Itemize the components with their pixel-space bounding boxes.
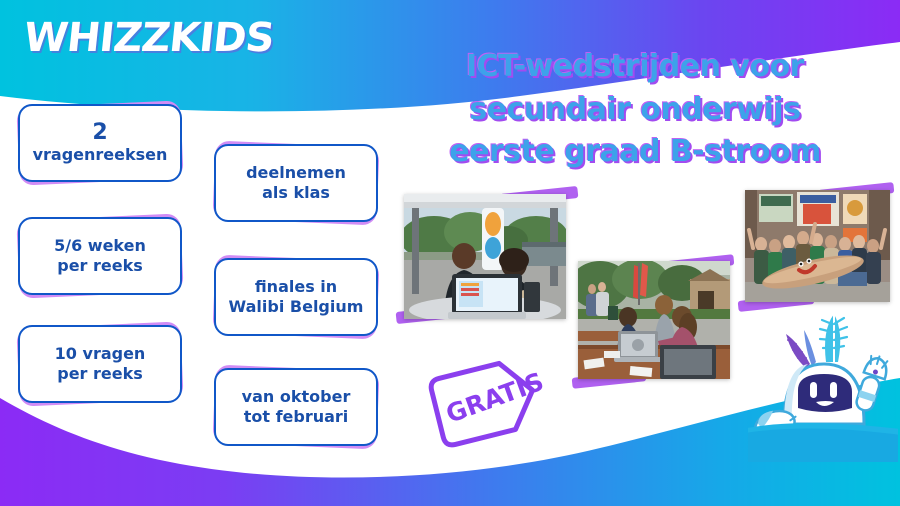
fact-label-line-1: 10 vragen — [55, 344, 146, 364]
photo-group-walibi — [745, 190, 890, 302]
whizzkids-robot-mascot — [748, 312, 898, 462]
photo-students-outdoor-tables — [578, 261, 730, 379]
fact-label-line-2: per reeks — [57, 364, 143, 384]
fact-label-line-2: Walibi Belgium — [229, 297, 364, 317]
headline-line-3: eerste graad B-stroom — [400, 131, 870, 174]
fact-box-card: 5/6 weken per reeks — [18, 217, 182, 295]
fact-label: vragenreeksen — [33, 145, 168, 165]
fact-box-vragen-per-reeks: 10 vragen per reeks — [18, 325, 182, 403]
fact-box-card: deelnemen als klas — [214, 144, 378, 222]
fact-label-line-2: als klas — [262, 183, 330, 203]
headline-line-1: ICT-wedstrijden voor — [400, 46, 870, 89]
gratis-stamp-badge: GRATIS — [424, 356, 546, 448]
fact-box-deelnemen-als-klas: deelnemen als klas — [214, 144, 378, 222]
fact-box-finales-walibi: finales in Walibi Belgium — [214, 258, 378, 336]
page-title: ICT-wedstrijden voor secundair onderwijs… — [400, 46, 870, 174]
fact-box-periode: van oktober tot februari — [214, 368, 378, 446]
fact-label-line-2: tot februari — [244, 407, 349, 427]
photo-students-laptop-tent — [404, 194, 566, 319]
fact-label-line-1: finales in — [255, 277, 337, 297]
logo-text: WHIZZKIDS — [22, 15, 276, 61]
fact-box-card: finales in Walibi Belgium — [214, 258, 378, 336]
headline-line-2: secundair onderwijs — [400, 89, 870, 132]
whizzkids-logo: WHIZZKIDS — [22, 18, 276, 58]
fact-label-line-1: 5/6 weken — [54, 236, 146, 256]
fact-box-weken-per-reeks: 5/6 weken per reeks — [18, 217, 182, 295]
fact-box-card: 2 vragenreeksen — [18, 104, 182, 182]
fact-value: 2 — [92, 121, 107, 145]
slide-canvas: WHIZZKIDS ICT-wedstrijden voor secundair… — [0, 0, 900, 506]
fact-box-vragenreeksen: 2 vragenreeksen — [18, 104, 182, 182]
fact-box-card: 10 vragen per reeks — [18, 325, 182, 403]
fact-box-card: van oktober tot februari — [214, 368, 378, 446]
fact-label-line-1: van oktober — [242, 387, 351, 407]
fact-label-line-2: per reeks — [57, 256, 143, 276]
fact-label-line-1: deelnemen — [246, 163, 346, 183]
